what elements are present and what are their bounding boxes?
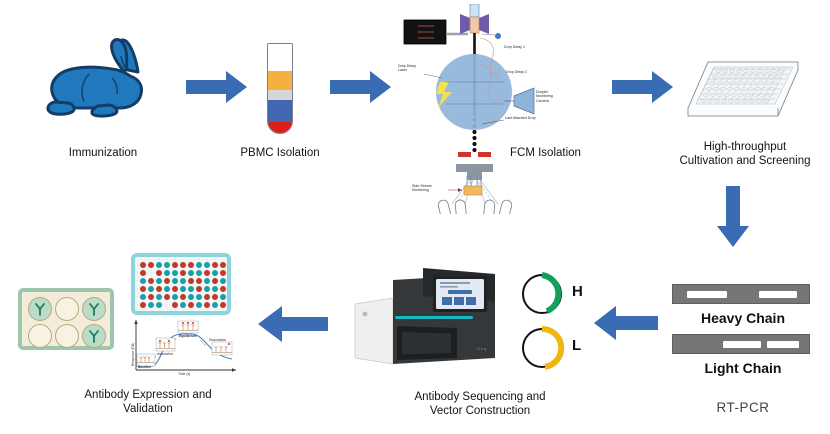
tube-layer-plasma	[268, 44, 292, 71]
gel-band-heavy-1	[687, 291, 727, 298]
arrow-cultivation-to-rtpcr	[716, 186, 750, 253]
label-light-chain: Light Chain	[660, 360, 826, 376]
spr-sensorgram: Baseline Association Equilibrium Dissoci…	[126, 318, 238, 380]
tube-layer-red-cells	[268, 100, 292, 122]
drop-delay-sensor	[495, 33, 501, 39]
six-well-culture-plate	[18, 288, 114, 350]
fcm-label-last-attached-drop: Last Attached Drop	[505, 116, 536, 120]
fcm-label-drop-delay-laser: Drop Delay Laser	[398, 64, 430, 73]
nozzle-tip	[470, 17, 479, 33]
fcm-label-side-stream-monitoring: Side Stream Monitoring	[412, 184, 448, 193]
benchtop-dna-sequencer: S e q	[345, 262, 513, 375]
caption-immunization: Immunization	[18, 146, 188, 160]
rabbit-silhouette	[42, 36, 166, 133]
gel-band-light-2	[767, 341, 799, 348]
label-heavy-chain: Heavy Chain	[660, 310, 826, 326]
arrow-sequencing-to-expression	[258, 305, 328, 348]
deflection-plate-positive	[478, 152, 491, 157]
flow-cytometer-sorter: Drop Delay Laser Drop Delay 1 Drop Delay…	[396, 4, 582, 214]
caption-rt-pcr: RT-PCR	[660, 400, 826, 415]
antigen-microarray	[131, 253, 231, 315]
spr-phase-equilibrium: Equilibrium	[179, 334, 197, 338]
arrow-fcm-to-cultivation	[612, 70, 674, 109]
plasmid-letter-h: H	[572, 283, 583, 300]
gel-band-heavy-2	[759, 291, 797, 298]
tube-layer-separation-gel	[268, 71, 292, 91]
spr-phase-dissociation: Dissociation	[209, 338, 226, 342]
caption-pbmc-isolation: PBMC Isolation	[200, 146, 360, 160]
side-stream-window	[464, 186, 482, 195]
arrow-rtpcr-to-sequencing	[594, 305, 658, 346]
microtiter-plate-96-well	[682, 56, 802, 129]
droplet-monitoring-camera-icon	[514, 88, 534, 114]
blood-collection-tube	[267, 43, 293, 134]
tube-layer-buffy-coat	[268, 90, 292, 100]
workflow-figure: Immunization PBMC Isolation	[0, 0, 830, 434]
spr-phase-baseline: Baseline	[138, 365, 151, 369]
fcm-label-drop-delay-1: Drop Delay 1	[504, 45, 525, 49]
deflection-plate-negative	[458, 152, 471, 157]
spr-phase-association: Association	[157, 352, 173, 356]
gel-heavy-chain	[672, 284, 810, 304]
plasmid-light-chain	[519, 325, 565, 376]
tube-layer-bottom	[268, 122, 292, 133]
caption-fcm-isolation: FCM Isolation	[510, 147, 581, 159]
caption-cultivation-screening: High-throughput Cultivation and Screenin…	[660, 140, 830, 168]
gel-light-chain	[672, 334, 810, 354]
sequencer-accent-light	[395, 316, 473, 319]
plasmid-letter-l: L	[572, 337, 581, 354]
arrow-pbmc-to-fcm	[330, 70, 392, 109]
fcm-label-droplet-monitoring-camera: Droplet Monitoring Camera	[536, 90, 553, 103]
collection-tubes	[437, 199, 513, 214]
caption-sequencing-vector: Antibody Sequencing and Vector Construct…	[380, 390, 580, 418]
spr-x-axis-label: Time (s)	[178, 372, 190, 376]
sequencer-left-module	[355, 298, 393, 364]
spr-y-axis-label: Response (RU)	[131, 343, 135, 366]
arrow-immunization-to-pbmc	[186, 70, 248, 109]
svg-text:S e q: S e q	[477, 346, 486, 351]
fcm-label-drop-delay-2: Drop Delay 2	[506, 70, 527, 74]
caption-expression-validation: Antibody Expression and Validation	[52, 388, 244, 416]
gel-band-light-1	[723, 341, 761, 348]
sort-block	[456, 164, 493, 180]
plasmid-heavy-chain	[519, 271, 565, 322]
